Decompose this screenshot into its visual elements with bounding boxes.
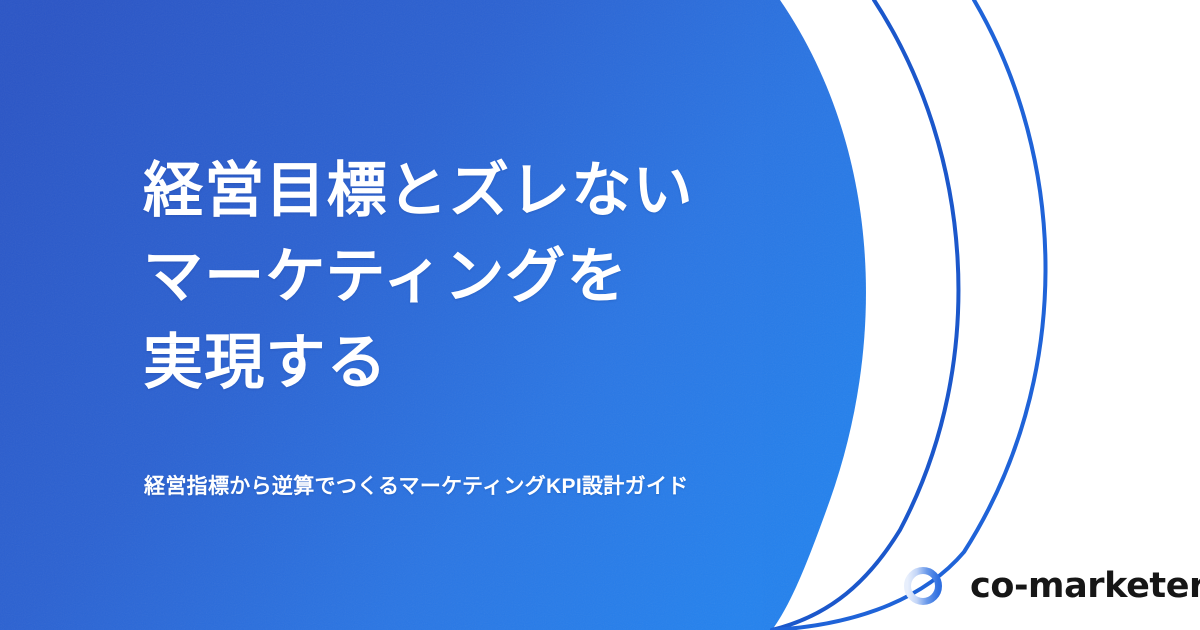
- page-title: 経営目標とズレない マーケティングを 実現する: [143, 148, 694, 406]
- text-content: 経営目標とズレない マーケティングを 実現する 経営指標から逆算でつくるマーケテ…: [143, 0, 903, 630]
- co-marketer-mark-icon: [868, 564, 954, 608]
- page-subtitle: 経営指標から逆算でつくるマーケティングKPI設計ガイド: [144, 472, 689, 502]
- social-card-canvas: 経営目標とズレない マーケティングを 実現する 経営指標から逆算でつくるマーケテ…: [0, 0, 1200, 630]
- brand-logo: co-marketer ®: [868, 562, 1200, 610]
- headline-line-1: 経営目標とズレない: [143, 148, 694, 234]
- headline-line-2: マーケティングを: [143, 234, 694, 320]
- logo-wordmark: co-marketer ®: [970, 569, 1200, 604]
- mark-o-shape: [908, 571, 939, 602]
- headline-line-3: 実現する: [143, 320, 694, 406]
- mark-c-shape: [873, 568, 903, 604]
- logo-wordmark-text: co-marketer: [970, 566, 1200, 606]
